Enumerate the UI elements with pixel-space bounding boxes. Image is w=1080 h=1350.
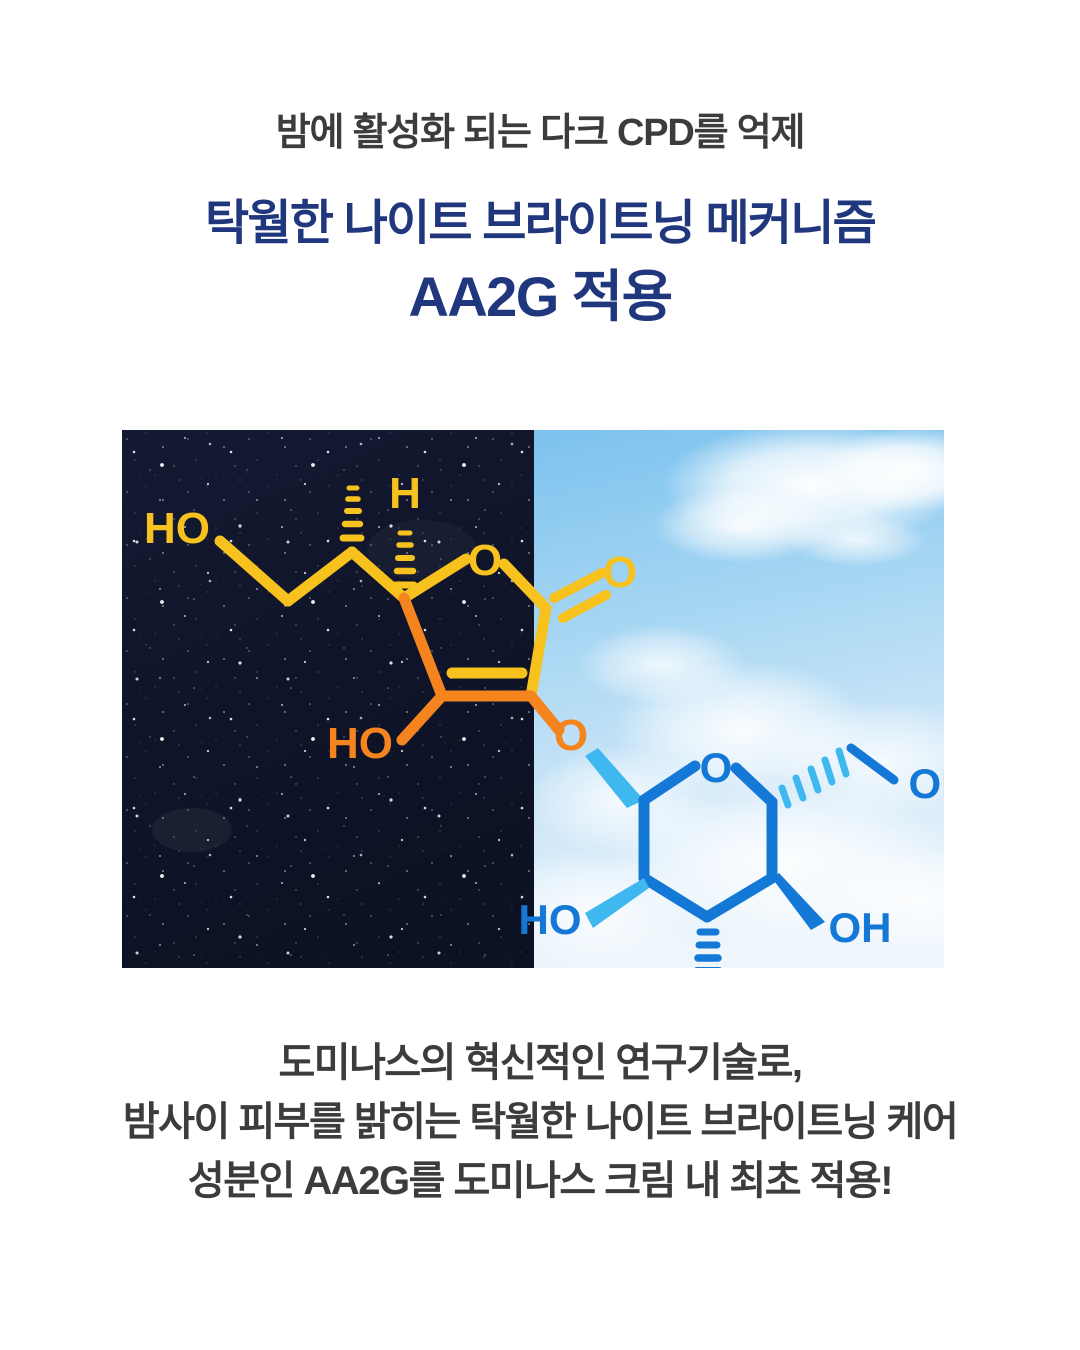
caption-block: 도미나스의 혁신적인 연구기술로, 밤사이 피부를 밝히는 탁월한 나이트 브라… bbox=[0, 1034, 1080, 1212]
caption-line-1: 도미나스의 혁신적인 연구기술로, bbox=[0, 1034, 1080, 1093]
label-h: H bbox=[389, 469, 421, 518]
label-ho-c2: HO bbox=[519, 896, 582, 943]
molecule-svg: HO H O O HO O bbox=[122, 430, 944, 968]
promo-page: 밤에 활성화 되는 다크 CPD를 억제 탁월한 나이트 브라이트닝 메커니즘 … bbox=[0, 0, 1080, 1350]
label-oh-primary: OH bbox=[909, 760, 945, 807]
caption-line-3: 성분인 AA2G를 도미나스 크림 내 최초 적용! bbox=[0, 1152, 1080, 1211]
day-panel bbox=[482, 430, 944, 968]
caption-line-2: 밤사이 피부를 밝히는 탁월한 나이트 브라이트닝 케어 bbox=[0, 1093, 1080, 1152]
heading-block: 밤에 활성화 되는 다크 CPD를 억제 탁월한 나이트 브라이트닝 메커니즘 … bbox=[0, 0, 1080, 328]
label-oh-c4: OH bbox=[829, 904, 892, 951]
label-ho-top: HO bbox=[144, 504, 210, 553]
label-o-ring: O bbox=[468, 536, 502, 585]
label-ho-enol: HO bbox=[327, 719, 393, 768]
label-o-ring-glucose: O bbox=[700, 744, 733, 791]
eyebrow-text: 밤에 활성화 되는 다크 CPD를 억제 bbox=[0, 0, 1080, 156]
molecule-artwork: HO H O O HO O bbox=[122, 430, 944, 968]
headline-text: 탁월한 나이트 브라이트닝 메커니즘 bbox=[0, 156, 1080, 253]
label-o-carbonyl: O bbox=[603, 548, 637, 597]
label-o-glycosidic: O bbox=[554, 711, 588, 760]
headline-secondary-text: AA2G 적용 bbox=[0, 252, 1080, 328]
